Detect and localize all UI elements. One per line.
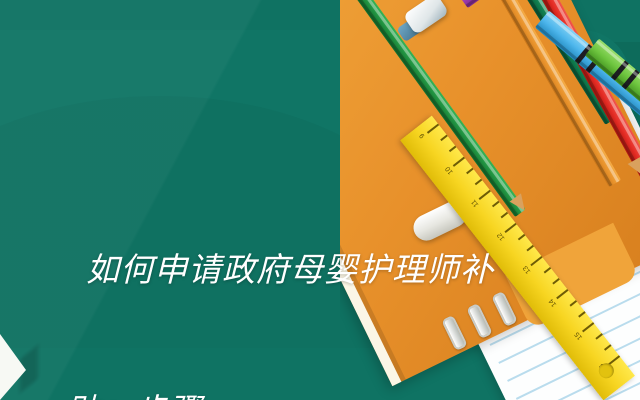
cover-title: 如何申请政府母婴护理师补 贴：步骤 bbox=[66, 152, 566, 400]
cover-title-line-1: 如何申请政府母婴护理师补 bbox=[66, 246, 566, 293]
cover-title-line-2: 贴：步骤 bbox=[66, 387, 566, 400]
ruler-number: 9 bbox=[419, 132, 427, 139]
page-corner-fold-icon bbox=[0, 334, 26, 400]
article-cover-card: 9 10 11 12 13 14 15 16 如何申请政府母婴护理师补 贴：步骤 bbox=[0, 0, 640, 400]
